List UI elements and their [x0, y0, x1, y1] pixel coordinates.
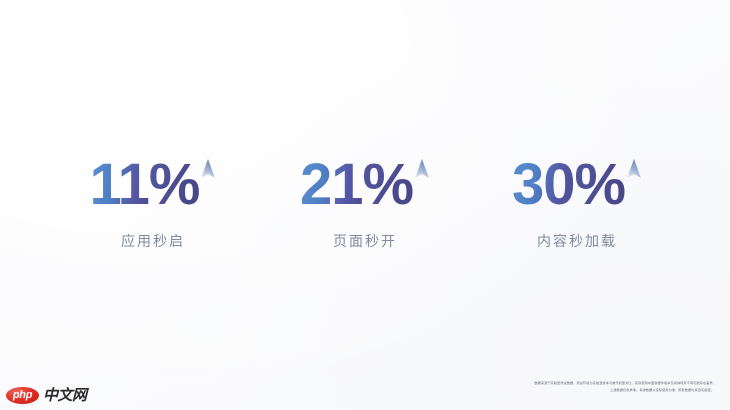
stat-block-app-launch: 11 % 应用秒启 — [47, 156, 259, 251]
stat-label: 内容秒加载 — [537, 231, 617, 251]
watermark: php 中文网 — [6, 387, 87, 404]
watermark-site-name: 中文网 — [43, 388, 87, 403]
trend-up-arrow-icon — [414, 158, 430, 180]
stat-value-row: 11 % — [90, 156, 217, 218]
stat-block-page-open: 21 % 页面秒开 — [259, 156, 471, 251]
footnote-disclaimer: 数据来源于实验室测试数据，测试环境为实验室版本与前代机型对比，实际使用中因软硬件… — [416, 381, 716, 392]
footnote-line-1: 数据来源于实验室测试数据，测试环境为实验室版本与前代机型对比，实际使用中因软硬件… — [534, 381, 716, 385]
stat-value: 30 — [512, 156, 575, 214]
footnote-line-2: 上述数据仅供参考。具体数据以实际使用为准，所有数据均来自实验室。 — [610, 388, 716, 392]
stat-value: 11 — [90, 156, 149, 214]
stat-percent-symbol: % — [362, 156, 413, 214]
stat-value-row: 30 % — [512, 156, 642, 218]
stat-percent-symbol: % — [149, 156, 200, 214]
stat-value: 21 — [300, 156, 363, 214]
stat-percent-symbol: % — [574, 156, 625, 214]
slide-canvas: 11 % 应用秒启 — [0, 0, 730, 410]
stat-value-row: 21 % — [300, 156, 430, 218]
stats-row: 11 % 应用秒启 — [0, 156, 730, 272]
trend-up-arrow-icon — [200, 158, 216, 180]
php-logo-text: php — [13, 390, 32, 401]
stat-label: 应用秒启 — [121, 231, 185, 251]
stat-block-content-load: 30 % 内容秒加载 — [471, 156, 683, 251]
trend-up-arrow-icon — [626, 158, 642, 180]
php-logo-icon: php — [6, 387, 39, 404]
stat-label: 页面秒开 — [333, 231, 397, 251]
